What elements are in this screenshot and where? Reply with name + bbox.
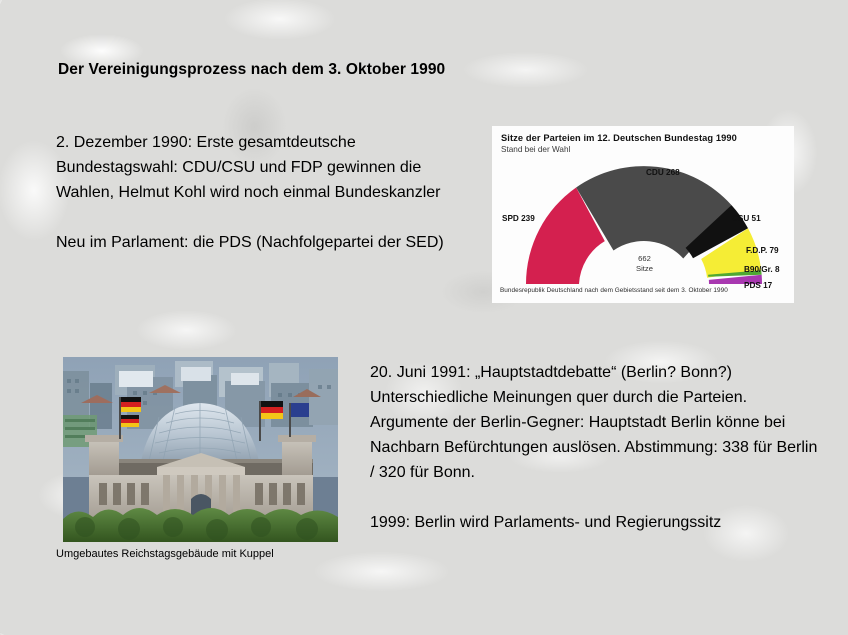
label-csu: CSU 51 (732, 214, 761, 223)
chart-title: Sitze der Parteien im 12. Deutschen Bund… (501, 133, 737, 143)
right-text-block: 20. Juni 1991: „Hauptstadtdebatte“ (Berl… (370, 360, 820, 535)
chart-footnote: Bundesrepublik Deutschland nach dem Gebi… (500, 287, 728, 294)
reichstag-photo-image (63, 357, 338, 542)
reichstag-photo (63, 357, 338, 542)
label-pds: PDS 17 (744, 281, 772, 290)
left-paragraph-1: 2. Dezember 1990: Erste gesamtdeutsche B… (56, 130, 476, 205)
page-title: Der Vereinigungsprozess nach dem 3. Okto… (58, 61, 445, 79)
reichstag-illustration (63, 357, 338, 542)
left-text-block: 2. Dezember 1990: Erste gesamtdeutsche B… (56, 130, 476, 255)
photo-caption: Umgebautes Reichstagsgebäude mit Kuppel (56, 548, 274, 560)
label-spd: SPD 239 (502, 214, 535, 223)
chart-subtitle: Stand bei der Wahl (501, 145, 570, 154)
slide-background: Der Vereinigungsprozess nach dem 3. Okto… (0, 0, 848, 635)
bundestag-seats-chart: Sitze der Parteien im 12. Deutschen Bund… (492, 126, 794, 303)
center-total-unit: Sitze (636, 264, 653, 273)
center-total: 662 Sitze (607, 254, 682, 274)
label-gruene: B90/Gr. 8 (744, 265, 780, 274)
label-cdu: CDU 268 (646, 168, 680, 177)
center-total-value: 662 (638, 254, 651, 263)
right-paragraph-1: 20. Juni 1991: „Hauptstadtdebatte“ (Berl… (370, 360, 820, 485)
left-paragraph-2: Neu im Parlament: die PDS (Nachfolgepart… (56, 230, 476, 255)
label-fdp: F.D.P. 79 (746, 246, 779, 255)
right-paragraph-2: 1999: Berlin wird Parlaments- und Regier… (370, 510, 820, 535)
